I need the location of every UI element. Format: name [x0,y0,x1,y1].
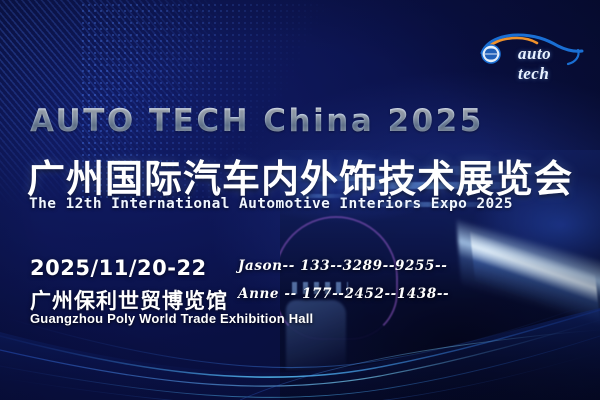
logo-wordmark: auto tech [518,44,586,84]
event-date: 2025/11/20-22 [30,256,207,280]
event-poster: auto tech AUTO TECH China 2025 广州国际汽车内外饰… [0,0,600,400]
contact-anne: Anne -- 177--2452--1438-- [238,286,449,302]
auto-tech-logo[interactable]: auto tech [474,26,586,70]
subtitle-english: The 12th International Automotive Interi… [29,196,513,212]
contact-jason: Jason-- 133--3289--9255-- [238,258,447,274]
venue-name-english: Guangzhou Poly World Trade Exhibition Ha… [30,311,313,326]
page-title-chinese: 广州国际汽车内外饰技术展览会 [27,148,573,203]
page-title-english: AUTO TECH China 2025 [30,103,484,139]
